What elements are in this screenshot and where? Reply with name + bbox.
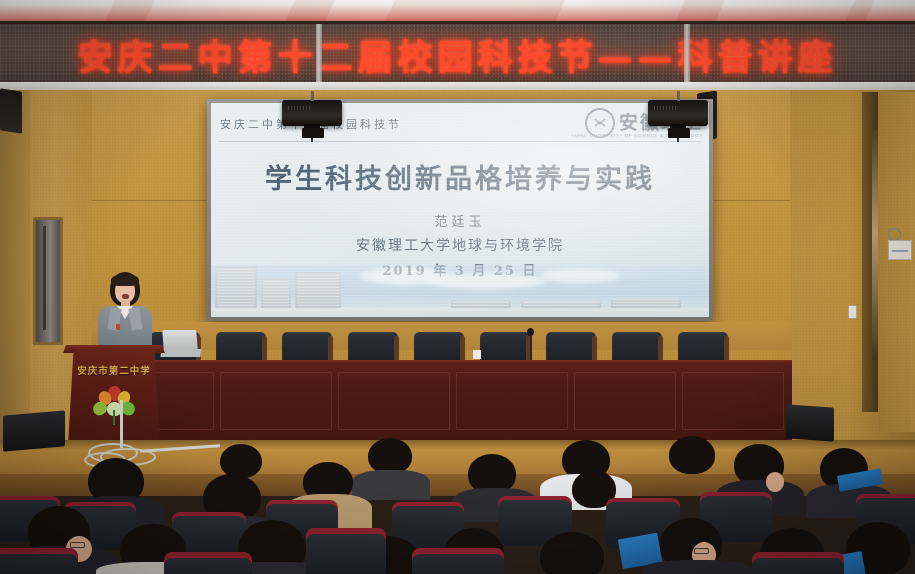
water-cup (473, 350, 481, 359)
window-mullion (316, 24, 322, 88)
led-banner: 安庆二中第十二届校园科技节——科普讲座 (0, 24, 915, 86)
window-mullion (684, 24, 690, 88)
light-switch[interactable] (848, 305, 857, 319)
slide-speaker-name: 范廷玉 (211, 211, 709, 230)
laptop-keyboard[interactable] (160, 349, 201, 357)
microphone-icon (527, 328, 534, 336)
audience-seat (752, 558, 844, 574)
audience-seat (164, 558, 252, 574)
slide-title: 学生科技创新品格培养与实践 (211, 157, 709, 196)
audience-seat (306, 534, 386, 574)
projector-left (282, 100, 342, 126)
niche-bar (43, 226, 46, 330)
laptop-screen (162, 330, 197, 350)
slide-divider (219, 141, 701, 142)
speaker-fringe (111, 274, 139, 286)
school-emblem-icon (92, 386, 136, 426)
audience-head (669, 436, 715, 474)
microphone-stand (530, 332, 532, 360)
slide-campus-photo (211, 265, 709, 317)
audience-seat (412, 554, 504, 574)
led-banner-text: 安庆二中第十二届校园科技节——科普讲座 (0, 30, 915, 81)
auditorium-photo: 安庆二中第十二届校园科技节——科普讲座 安庆二中第十二届校园科技节 安徽 (0, 0, 915, 574)
wall-sign-plaque (888, 240, 912, 260)
audience-area (0, 436, 915, 574)
speaker-mouth (122, 294, 129, 299)
audience-head (368, 438, 412, 474)
head-table (92, 362, 792, 440)
speaker-badge (116, 324, 120, 330)
speaker-person (96, 272, 154, 354)
podium: 安庆市第二中学 (68, 350, 160, 446)
projection-screen: 安庆二中第十二届校园科技节 安徽理工 ANHUI UNIVERSITY OF S… (211, 103, 709, 317)
slide-speaker-org: 安徽理工大学地球与环境学院 (211, 235, 709, 255)
wall-niche (33, 217, 63, 345)
audience-seat (0, 554, 78, 574)
audience-head (540, 532, 604, 574)
podium-school-name: 安庆市第二中学 (68, 363, 160, 377)
audience-head (220, 444, 262, 478)
wall-speaker-left (0, 88, 22, 133)
projector-right (648, 100, 708, 126)
left-wall-shadow (0, 90, 30, 450)
corner-column (878, 92, 915, 432)
